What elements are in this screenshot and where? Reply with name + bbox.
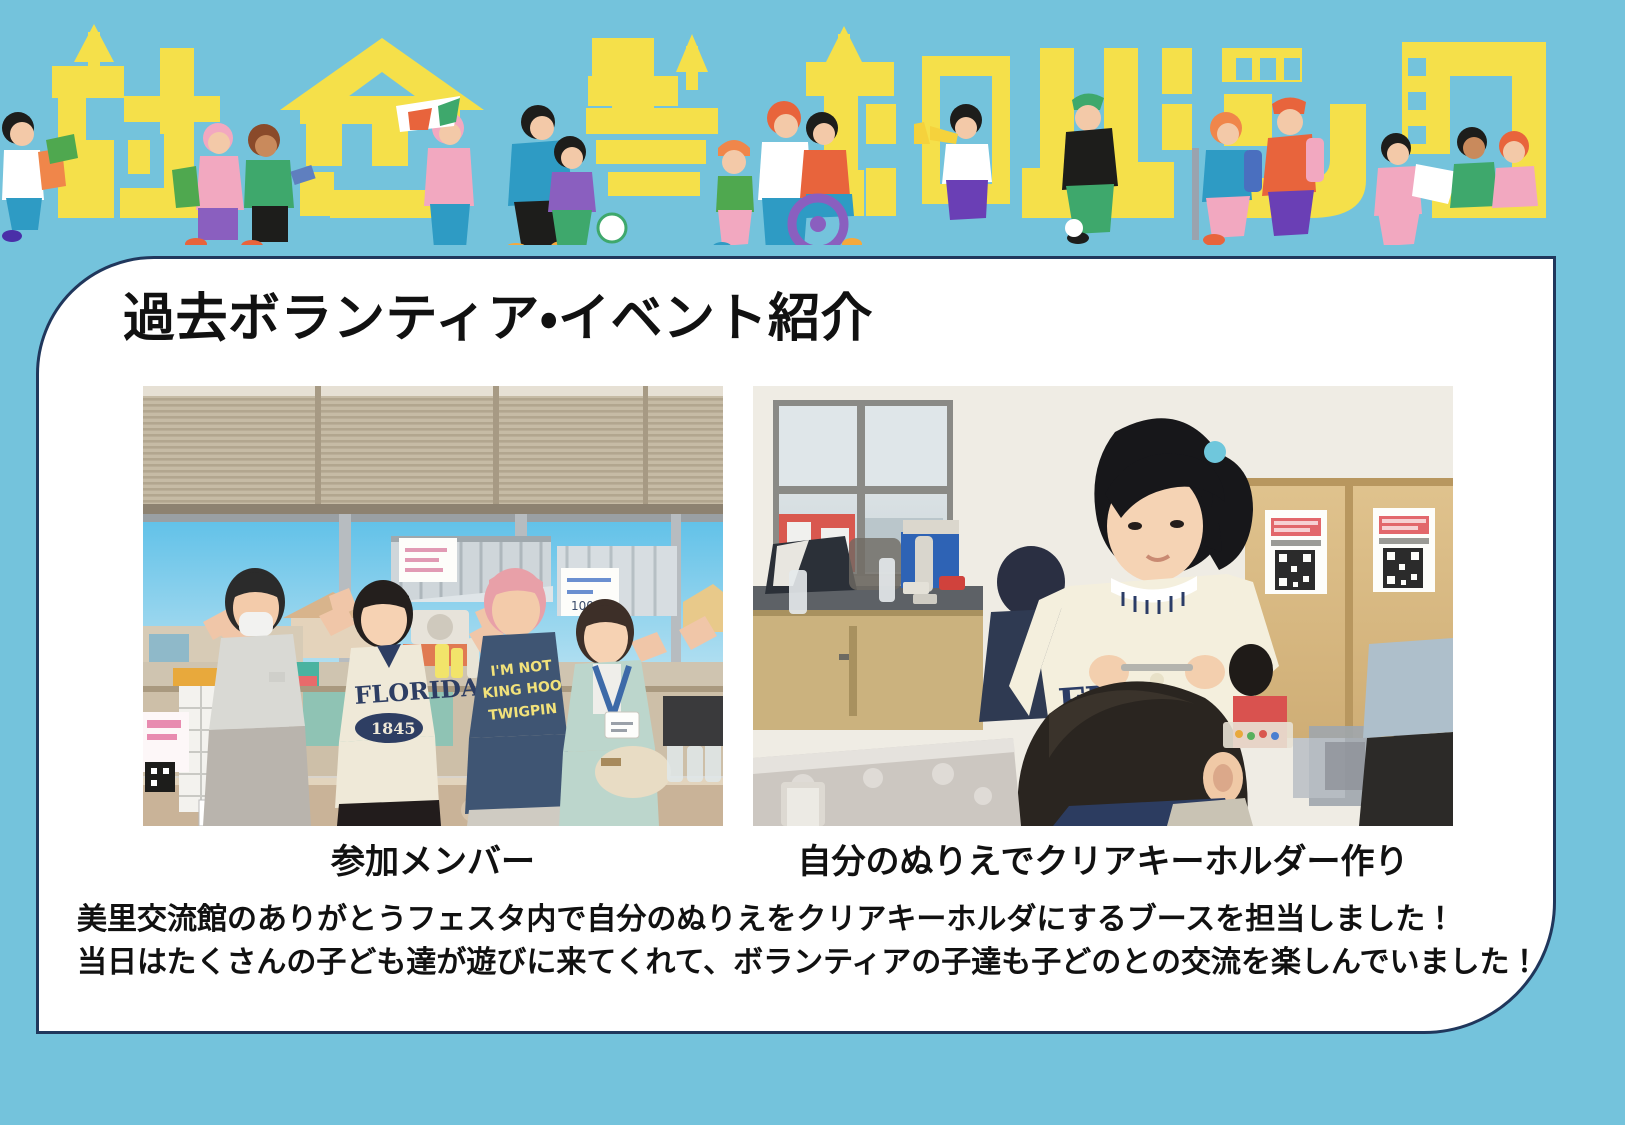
photo-clear-keyholder-image: FIOD <box>753 386 1453 826</box>
photo-block-participating-members: 100 <box>143 386 723 881</box>
photo-caption-participating-members: 参加メンバー <box>143 844 723 881</box>
content-card: 過去ボランティア・イベント紹介 <box>36 256 1556 1034</box>
banner-title-artwork <box>0 0 1625 245</box>
svg-text:1845: 1845 <box>371 719 416 738</box>
event-description: 美里交流館のありがとうフェスタ内で自分のぬりえをクリアキーホルダにするブースを担… <box>77 899 1517 984</box>
photo-block-clear-keyholder: FIOD <box>753 386 1453 881</box>
photo-participating-members[interactable]: 100 <box>143 386 723 826</box>
event-description-line-1: 美里交流館のありがとうフェスタ内で自分のぬりえをクリアキーホルダにするブースを担… <box>77 899 1517 942</box>
photo-caption-clear-keyholder: 自分のぬりえでクリアキーホルダー作り <box>753 844 1453 881</box>
photo-clear-keyholder-making[interactable]: FIOD <box>753 386 1453 826</box>
event-description-line-2: 当日はたくさんの子ども達が遊びに来てくれて、ボランティアの子達も子どのとの交流を… <box>77 942 1517 985</box>
photo-participating-members-image: 100 <box>143 386 723 826</box>
header-banner <box>0 0 1625 245</box>
